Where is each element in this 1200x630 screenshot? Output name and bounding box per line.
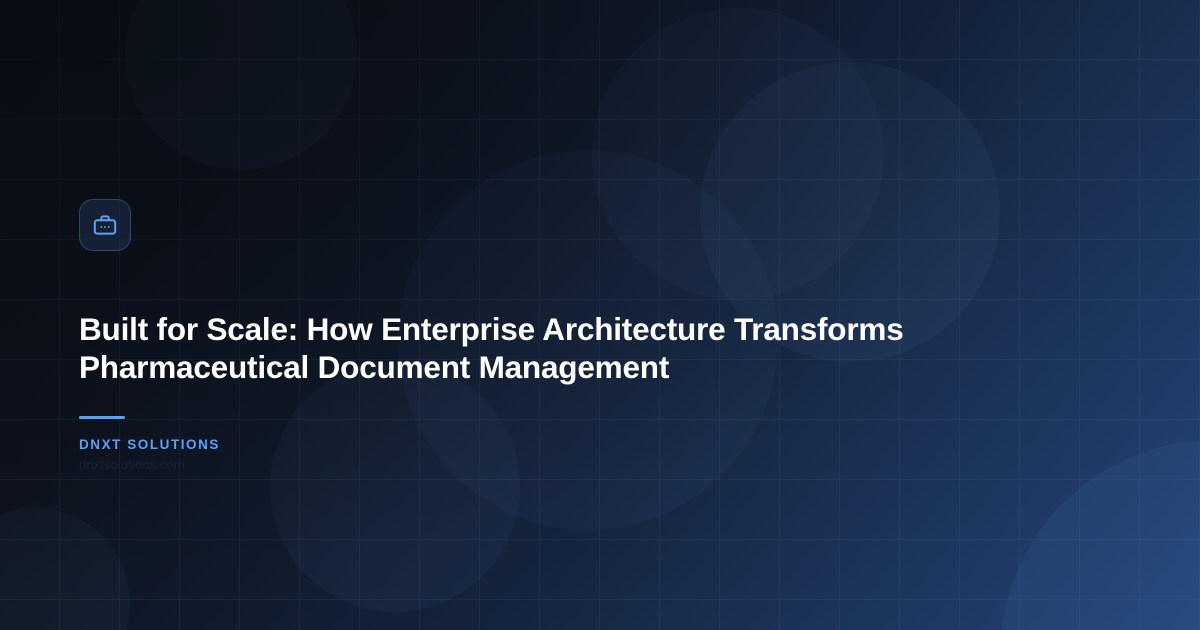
card-content: Built for Scale: How Enterprise Architec… xyxy=(79,199,979,472)
briefcase-icon xyxy=(92,212,118,238)
og-share-card: Built for Scale: How Enterprise Architec… xyxy=(0,0,1200,630)
accent-divider xyxy=(79,416,125,419)
page-title: Built for Scale: How Enterprise Architec… xyxy=(79,310,919,386)
brand-icon-badge xyxy=(79,199,131,251)
brand-website: dnxtsolutions.com xyxy=(79,457,979,472)
brand-name: DNXT SOLUTIONS xyxy=(79,437,979,452)
